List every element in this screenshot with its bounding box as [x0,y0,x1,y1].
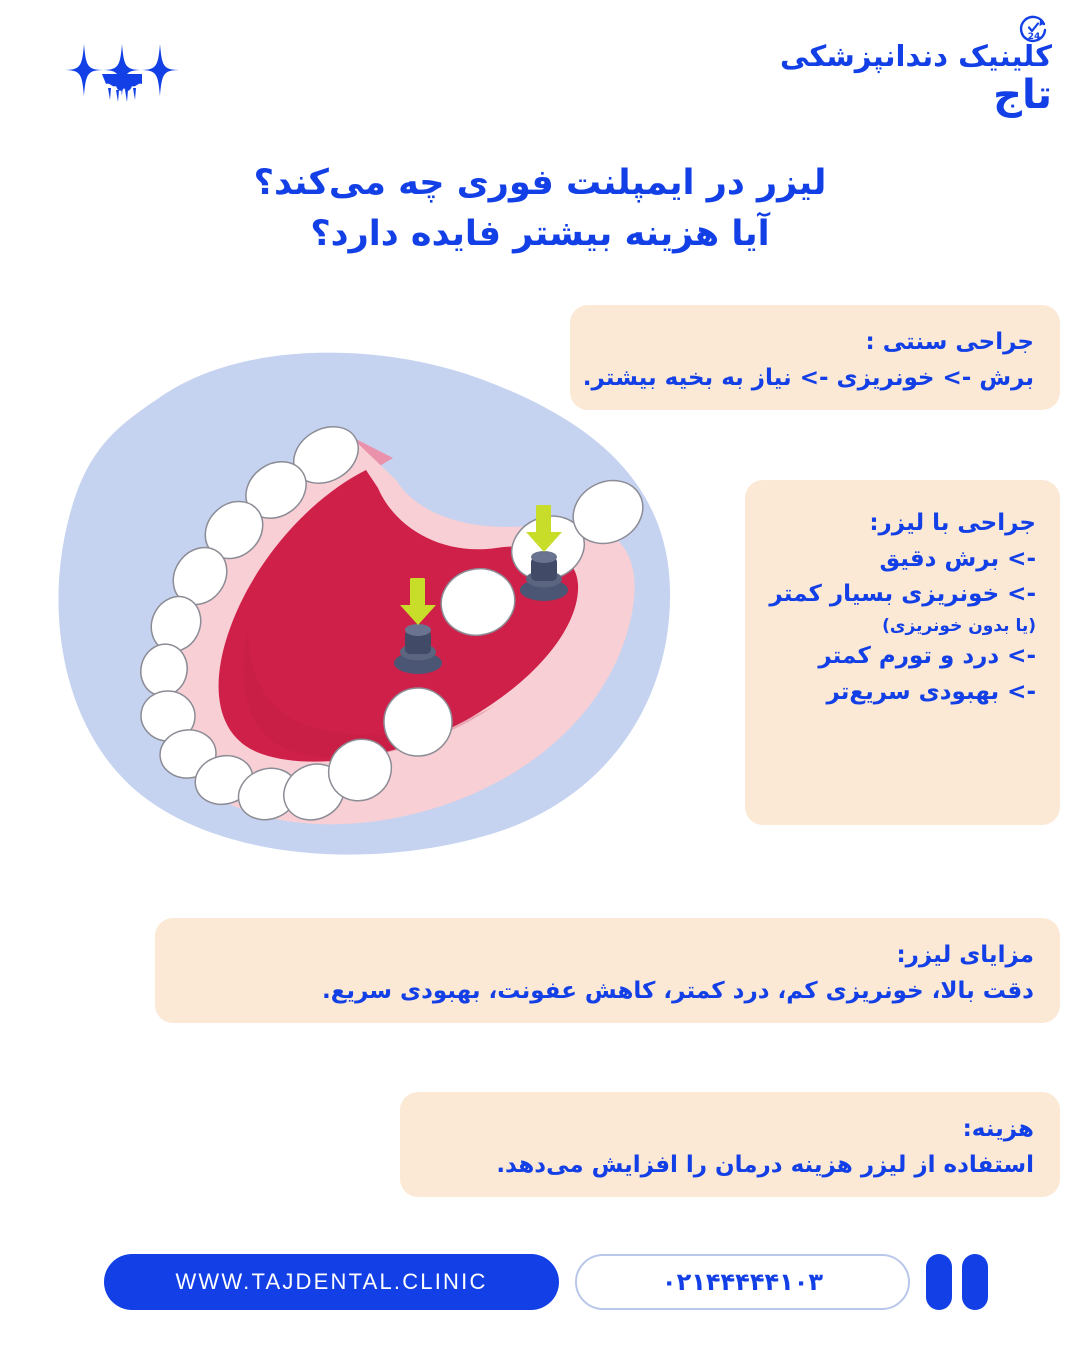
card-cost: هزینه: استفاده از لیزر هزینه درمان را اف… [400,1092,1060,1197]
header: 24 کلینیک دندانپزشکی تاج [0,0,1080,145]
implant-top [531,551,557,563]
website-button[interactable]: WWW.TAJDENTAL.CLINIC [104,1254,559,1310]
card-benefits-heading: مزایای لیزر: [181,938,1034,974]
card-laser-heading: جراحی با لیزر: [769,506,1036,542]
phone-number-button[interactable]: ۰۲۱۴۴۴۴۴۱۰۳ [575,1254,910,1310]
brand-name-secondary: تاج [780,75,1052,115]
card-laser-benefits: مزایای لیزر: دقت بالا، خونریزی کم، درد ک… [155,918,1060,1023]
card-traditional-line-1: برش -> خونریزی -> نیاز به بخیه بیشتر. [596,361,1034,397]
decorative-pill-1 [926,1254,952,1310]
lower-jaw-dental-implant-illustration [48,330,688,870]
footer: WWW.TAJDENTAL.CLINIC ۰۲۱۴۴۴۴۴۱۰۳ [0,1240,1080,1350]
implant-top [405,624,431,636]
card-laser-line-4: -> بهبودی سریع‌تر [769,675,1036,711]
card-cost-line-1: استفاده از لیزر هزینه درمان را افزایش می… [426,1148,1034,1184]
clock-24-icon: 24 [1016,10,1052,46]
card-benefits-line-1: دقت بالا، خونریزی کم، درد کمتر، کاهش عفو… [181,974,1034,1010]
title-line-2: آیا هزینه بیشتر فایده دارد؟ [0,209,1080,260]
infographic-page: 24 کلینیک دندانپزشکی تاج لیزر در ایمپلنت… [0,0,1080,1350]
card-traditional-heading: جراحی سنتی : [596,325,1034,361]
card-laser-surgery: جراحی با لیزر: -> برش دقیق -> خونریزی بس… [745,480,1060,825]
card-laser-line-3: -> درد و تورم کمتر [769,639,1036,675]
card-laser-note: (یا بدون خونریزی) [769,613,1036,639]
card-laser-line-2: -> خونریزی بسیار کمتر [769,577,1036,613]
svg-text:24: 24 [1028,32,1041,42]
card-laser-line-1: -> برش دقیق [769,542,1036,578]
card-traditional-surgery: جراحی سنتی : برش -> خونریزی -> نیاز به ب… [570,305,1060,410]
title-line-1: لیزر در ایمپلنت فوری چه می‌کند؟ [0,158,1080,209]
brand-lockup: 24 کلینیک دندانپزشکی تاج [780,16,1052,115]
brand-name-primary: کلینیک دندانپزشکی [780,42,1052,71]
page-title: لیزر در ایمپلنت فوری چه می‌کند؟ آیا هزین… [0,158,1080,260]
taj-crown-logo-icon [32,22,212,117]
card-cost-heading: هزینه: [426,1112,1034,1148]
decorative-pill-2 [962,1254,988,1310]
